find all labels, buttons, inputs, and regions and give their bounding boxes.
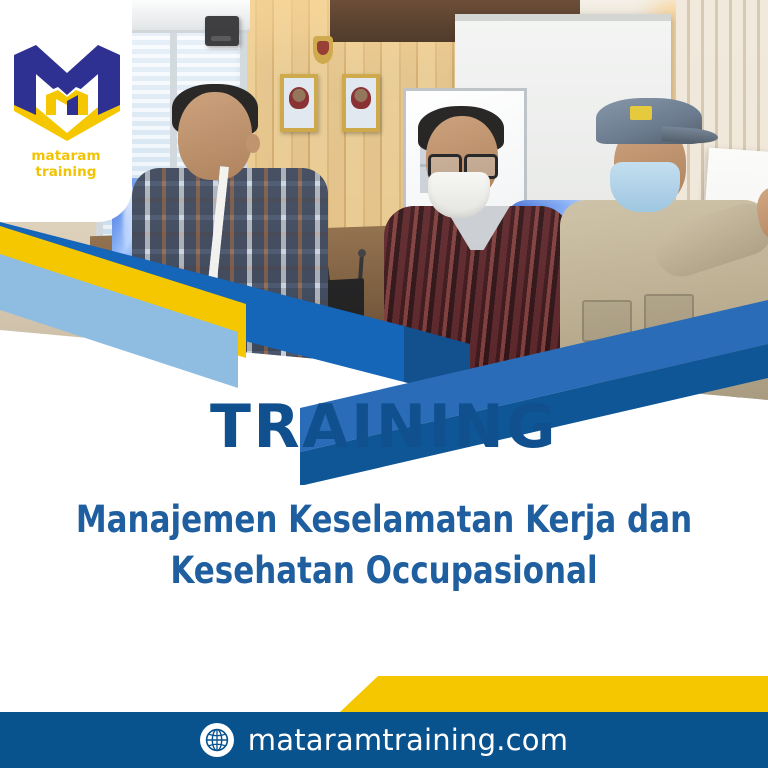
logo-panel: mataram training [0,0,132,222]
cap-logo [630,106,652,120]
globe-icon [200,723,234,757]
eyeglasses-icon [428,154,498,174]
yellow-accent-strip [340,676,768,712]
subtitle-line-2: Kesehatan Occupasional [55,545,713,596]
baseball-cap-icon [596,98,702,144]
subtitle-line-1: Manajemen Keselamatan Kerja dan [55,494,713,545]
m-monogram-icon [14,45,120,141]
footer-content: mataramtraining.com [200,723,568,757]
page-title: TRAINING [0,392,768,462]
wall-emblem-icon [313,36,333,64]
framed-portrait [280,74,318,132]
ear [246,134,260,153]
website-url[interactable]: mataramtraining.com [248,723,568,757]
poster-canvas: mataram training TRAINING Manajemen Kese… [0,0,768,768]
face [178,92,252,180]
face-mask-icon [610,162,680,212]
wall-speaker-icon [205,16,239,46]
footer-bar: mataramtraining.com [0,712,768,768]
logo-wordmark: mataram training [0,148,132,180]
page-subtitle: Manajemen Keselamatan Kerja dan Kesehata… [55,494,713,596]
framed-portrait [342,74,380,132]
